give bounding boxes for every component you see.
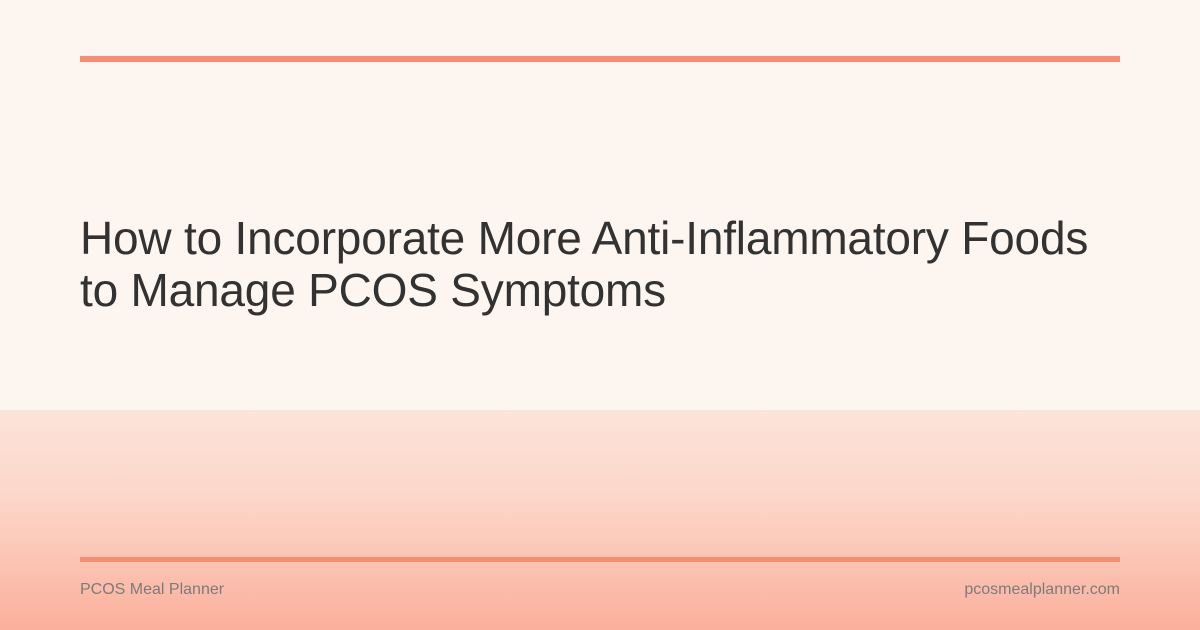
- share-card: How to Incorporate More Anti-Inflammator…: [0, 0, 1200, 630]
- footer: PCOS Meal Planner pcosmealplanner.com: [80, 578, 1120, 602]
- bottom-accent-rule: [80, 557, 1120, 562]
- top-accent-rule: [80, 56, 1120, 62]
- footer-brand-label: PCOS Meal Planner: [80, 578, 224, 602]
- footer-site-url: pcosmealplanner.com: [964, 578, 1120, 602]
- page-title: How to Incorporate More Anti-Inflammator…: [80, 212, 1120, 316]
